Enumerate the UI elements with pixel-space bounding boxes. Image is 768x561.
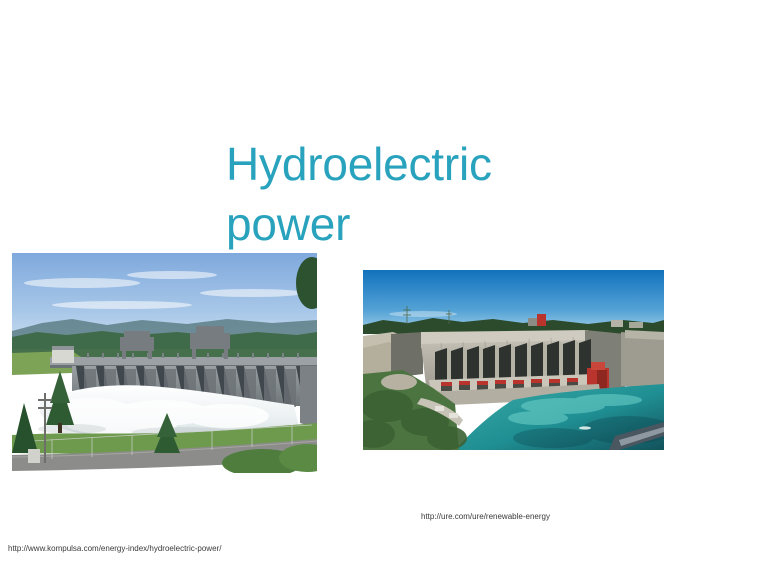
right-image-source-caption: http://ure.com/ure/renewable-energy <box>421 511 550 522</box>
spillway-dam-illustration <box>12 253 317 473</box>
powerhouse-penstock-photo <box>363 270 664 450</box>
presentation-slide: Hydroelectric power <box>0 0 768 561</box>
powerhouse-penstock-illustration <box>363 270 664 450</box>
left-image-source-caption: http://www.kompulsa.com/energy-index/hyd… <box>8 543 221 554</box>
spillway-dam-photo <box>12 253 317 473</box>
page-title: Hydroelectric power <box>226 134 696 254</box>
